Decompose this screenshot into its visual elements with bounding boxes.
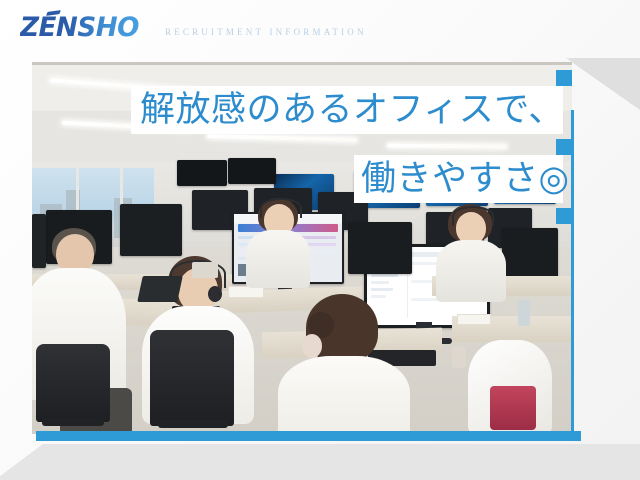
zensho-logo[interactable]: ZENSHO (20, 14, 139, 41)
headset-earcup-icon (302, 334, 322, 358)
header-tagline: RECRUITMENT INFORMATION (165, 27, 367, 37)
headline-banner-1: 解放感のあるオフィスで、 (131, 86, 563, 134)
chair-base (158, 420, 228, 428)
person-standing (468, 330, 558, 434)
monitor-back (348, 222, 412, 274)
person-seated (276, 294, 412, 434)
office-chair (36, 344, 110, 422)
headset-earcup-icon (208, 286, 222, 302)
right-vertical-accent-line (571, 110, 574, 435)
torso (246, 230, 310, 288)
accent-tab-bottom (556, 208, 572, 224)
bag (490, 386, 536, 430)
accent-tab-middle (556, 139, 572, 155)
torso (278, 356, 410, 434)
screen-row (371, 274, 398, 277)
monitor (228, 158, 276, 184)
desk-bottle (518, 300, 530, 326)
laptop (137, 276, 183, 302)
chair-base (42, 418, 104, 426)
office-chair (150, 330, 234, 426)
paper-stack (457, 314, 491, 325)
person-seated (434, 204, 508, 300)
screen-row (371, 288, 394, 291)
headset-icon (452, 206, 494, 226)
headline-banner-2: 働きやすさ◎ (354, 155, 563, 203)
poster-root: ZENSHO RECRUITMENT INFORMATION (0, 0, 640, 480)
accent-tab-top (556, 70, 572, 86)
headline-text-2: 働きやすさ◎ (361, 162, 570, 197)
desk-phone (192, 262, 218, 278)
desk-cup (452, 346, 466, 368)
page-header: ZENSHO RECRUITMENT INFORMATION (0, 0, 640, 58)
headset-icon (260, 198, 302, 218)
monitor (177, 160, 227, 186)
torso (436, 240, 506, 302)
zensho-logo-text: ZENSHO (20, 12, 139, 43)
headline-text-1: 解放感のあるオフィスで、 (140, 93, 564, 128)
bottom-accent-bar (36, 431, 581, 441)
person-seated (242, 198, 314, 290)
screen-row (371, 281, 389, 284)
top-right-diagonal-wedge (566, 58, 640, 110)
